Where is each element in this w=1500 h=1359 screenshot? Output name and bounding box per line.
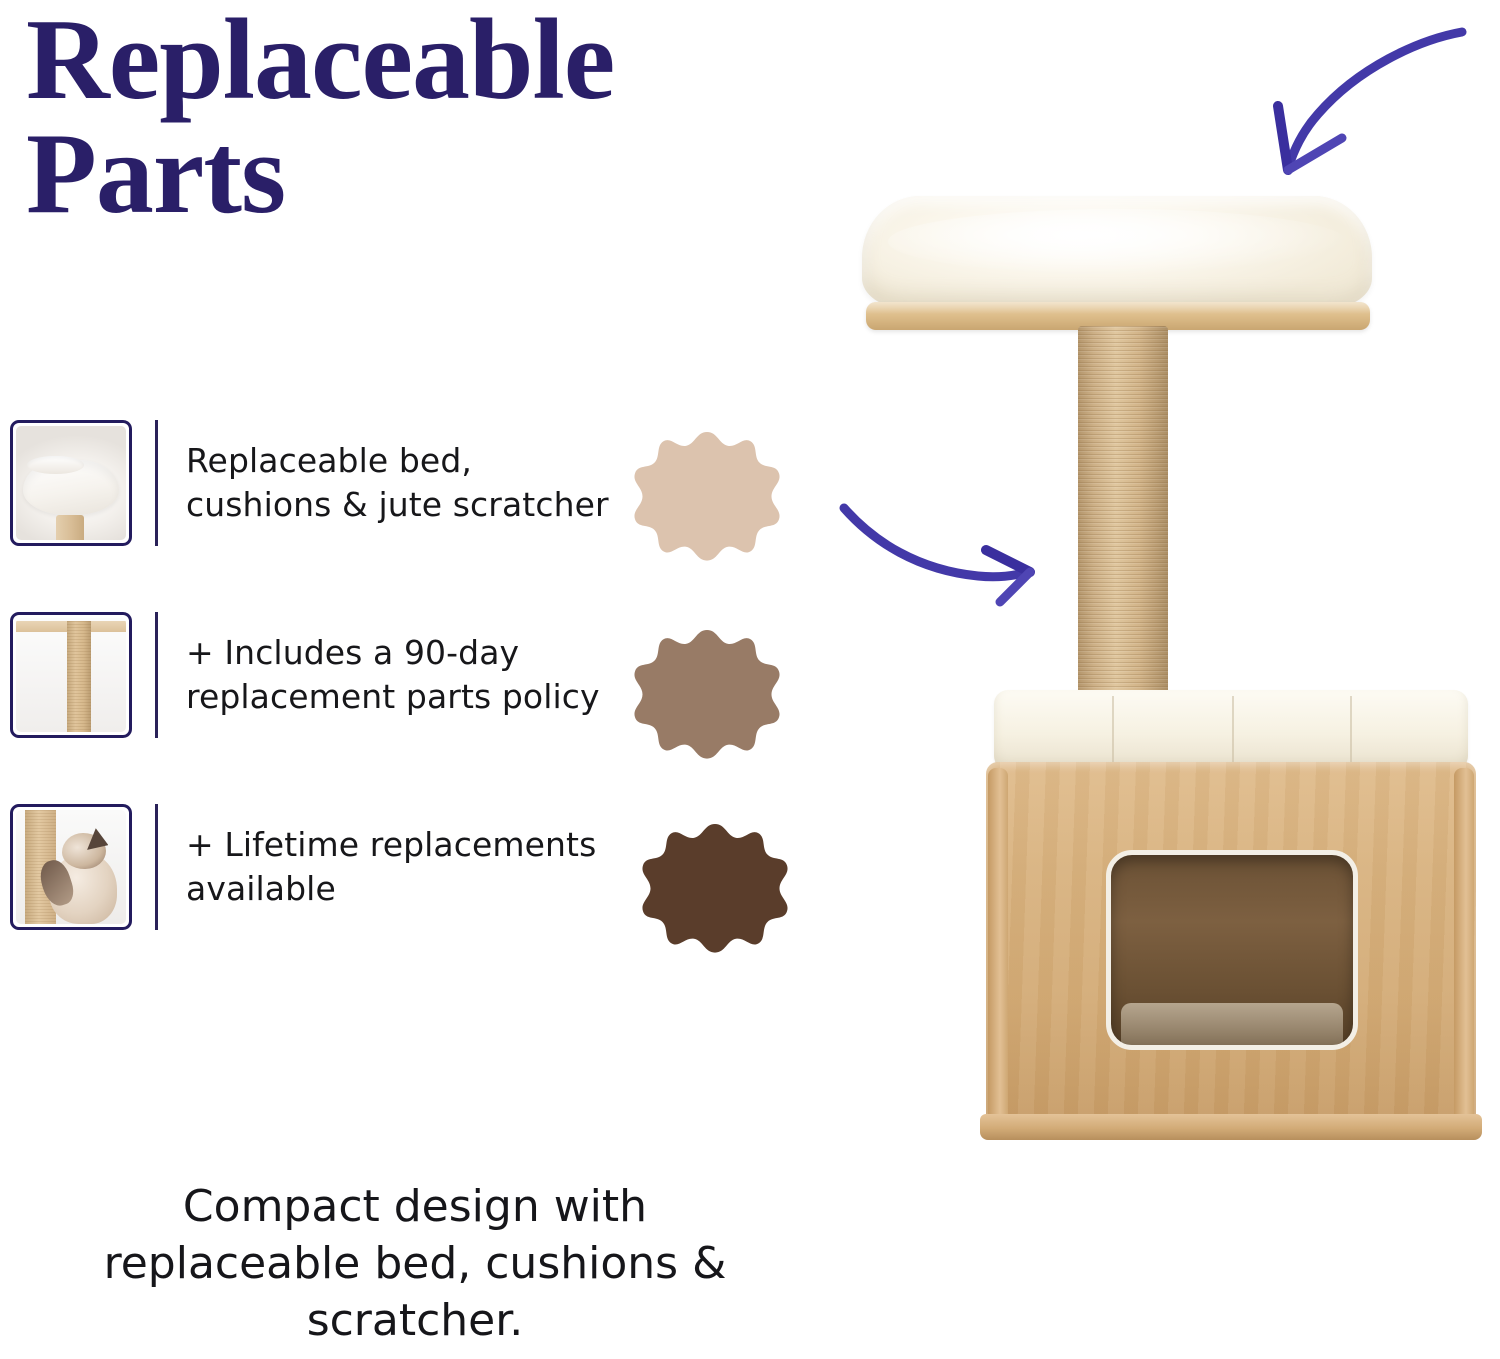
product-box-cushion (994, 690, 1468, 770)
feature-text: + Includes a 90-day replacement parts po… (186, 631, 600, 719)
page-title: Replaceable Parts (26, 4, 826, 231)
cushion-seam (1112, 696, 1114, 764)
row-divider (155, 612, 158, 738)
thumbnail-leg (56, 515, 85, 540)
row-divider (155, 804, 158, 930)
product-box-plinth (980, 1114, 1482, 1140)
thumbnail-post (67, 621, 91, 732)
cushion-seam (1350, 696, 1352, 764)
arrow-to-post-icon (832, 492, 1062, 610)
swatch-dark-brown (640, 812, 790, 962)
swatch-light-beige (632, 420, 782, 570)
cushion-seam (1232, 696, 1234, 764)
cat-scratching-thumbnail (10, 804, 132, 930)
scallop-shape (634, 630, 779, 759)
product-box-edge-left (988, 768, 1008, 1124)
product-box-edge-right (1454, 768, 1474, 1124)
feature-text: Replaceable bed, cushions & jute scratch… (186, 439, 609, 527)
scallop-shape (642, 824, 787, 953)
jute-post-thumbnail (10, 612, 132, 738)
product-jute-post (1078, 326, 1168, 726)
arrow-to-bed-icon (1190, 10, 1500, 195)
feature-text: + Lifetime replacements available (186, 823, 596, 911)
bed-cushion-thumbnail (10, 420, 132, 546)
row-divider (155, 420, 158, 546)
product-box-opening (1106, 850, 1358, 1050)
product-condo-box (986, 690, 1476, 1170)
bottom-caption: Compact design with replaceable bed, cus… (0, 1178, 830, 1350)
swatch-medium-taupe (632, 618, 782, 768)
product-top-bed (862, 196, 1372, 308)
product-interior-cushion (1121, 1003, 1344, 1045)
scallop-shape (634, 432, 779, 561)
